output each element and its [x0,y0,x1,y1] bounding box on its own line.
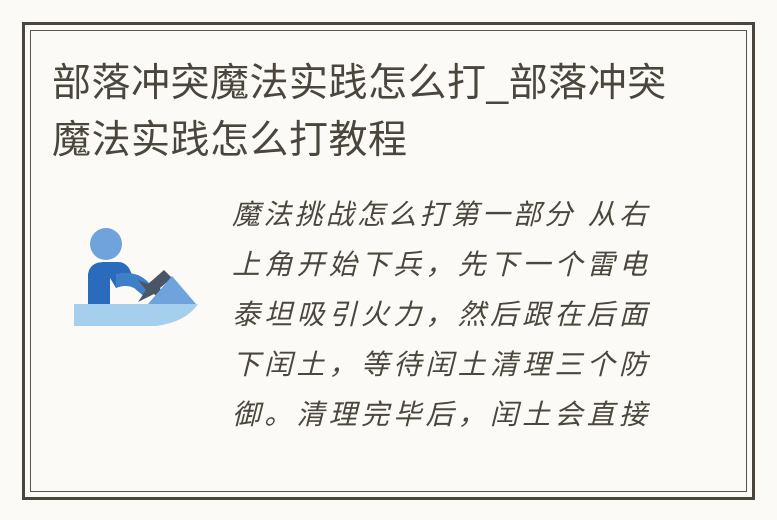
article-page: 部落冲突魔法实践怎么打_部落冲突魔法实践怎么打教程 [0,0,777,520]
page-title: 部落冲突魔法实践怎么打_部落冲突魔法实践怎么打教程 [52,55,677,169]
article-body-text: 魔法挑战怎么打第一部分 从右上角开始下兵，先下一个雷电泰坦吸引火力，然后跟在后面… [232,190,650,440]
person-riding-jetski-illustration [60,218,200,336]
article-body-area: 魔法挑战怎么打第一部分 从右上角开始下兵，先下一个雷电泰坦吸引火力，然后跟在后面… [30,190,747,480]
article-content: 部落冲突魔法实践怎么打_部落冲突魔法实践怎么打教程 [30,30,747,492]
